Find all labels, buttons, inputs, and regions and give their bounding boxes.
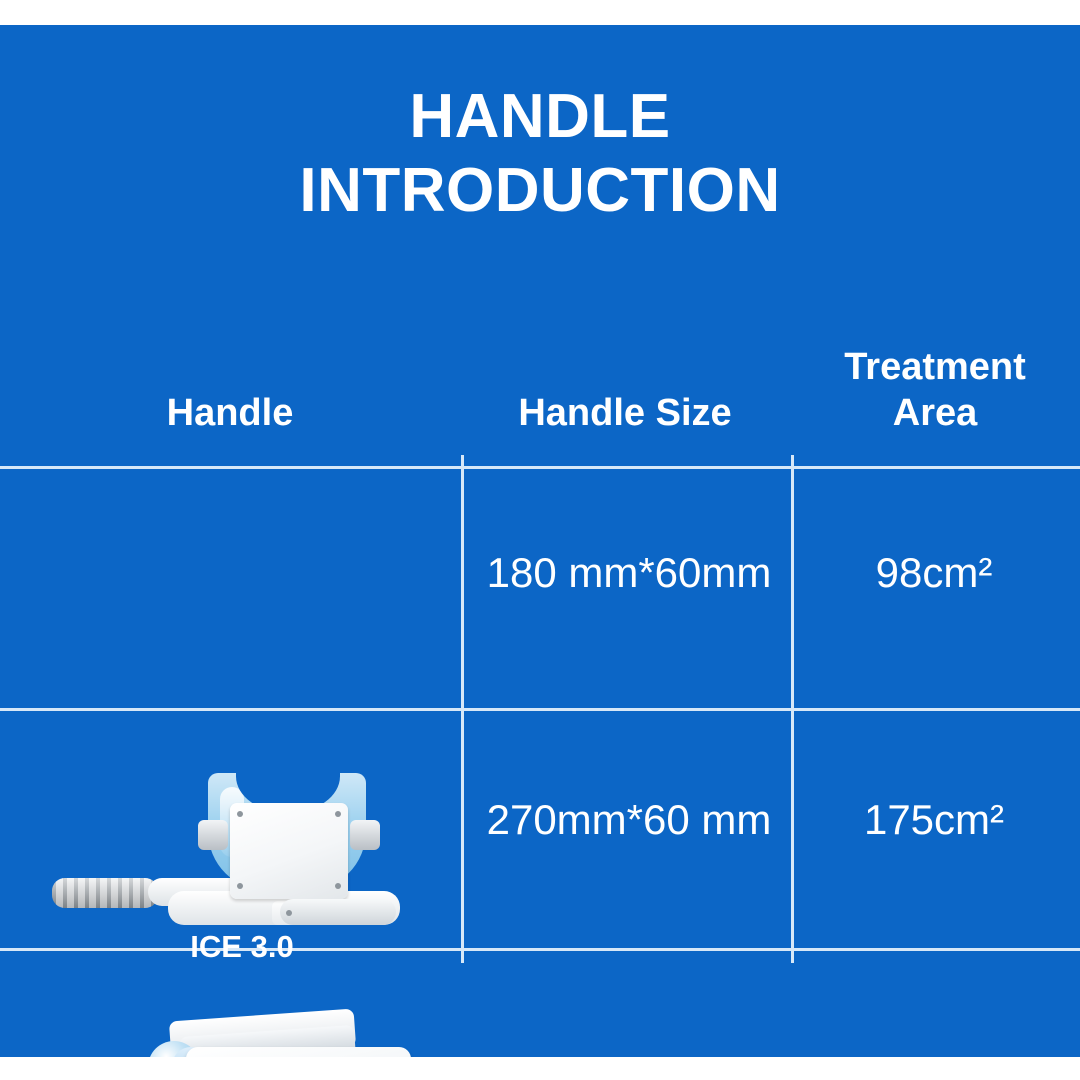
page-title-line-2: INTRODUCTION: [0, 154, 1080, 228]
screw-icon: [286, 910, 292, 916]
column-header-handle-size: Handle Size: [470, 390, 780, 436]
table-header-divider: [0, 466, 1080, 469]
page-title: HANDLE INTRODUCTION: [0, 80, 1080, 228]
screw-icon: [237, 811, 243, 817]
page-root: HANDLE INTRODUCTION Handle Handle Size T…: [0, 0, 1080, 1080]
cryolipolysis-applicator-ice6-icon: [20, 1013, 440, 1057]
handle-comparison-table: Handle Handle Size Treatment Area 180 mm…: [0, 295, 1080, 995]
page-title-line-1: HANDLE: [0, 80, 1080, 154]
table-row: 180 mm*60mm: [470, 548, 788, 598]
table-row: 270mm*60 mm: [470, 795, 788, 845]
strap-right: [350, 820, 380, 850]
column-header-treatment-area: Treatment Area: [800, 344, 1070, 436]
screw-icon: [335, 883, 341, 889]
column-header-handle: Handle: [25, 390, 435, 436]
table-column-divider-2: [791, 455, 794, 963]
blue-background-panel: HANDLE INTRODUCTION Handle Handle Size T…: [0, 25, 1080, 1057]
cable-shading: [52, 878, 158, 908]
cryolipolysis-applicator-ice3-icon: [40, 765, 440, 940]
strap-left: [198, 820, 228, 850]
screw-icon: [237, 883, 243, 889]
handle-body: [186, 1047, 411, 1057]
table-row: 175cm²: [800, 795, 1068, 845]
base-bar-secondary: [280, 899, 396, 925]
table-column-divider-1: [461, 455, 464, 963]
front-plate: [230, 803, 348, 899]
screw-icon: [335, 811, 341, 817]
table-row-divider: [0, 708, 1080, 711]
table-row: 98cm²: [800, 548, 1068, 598]
